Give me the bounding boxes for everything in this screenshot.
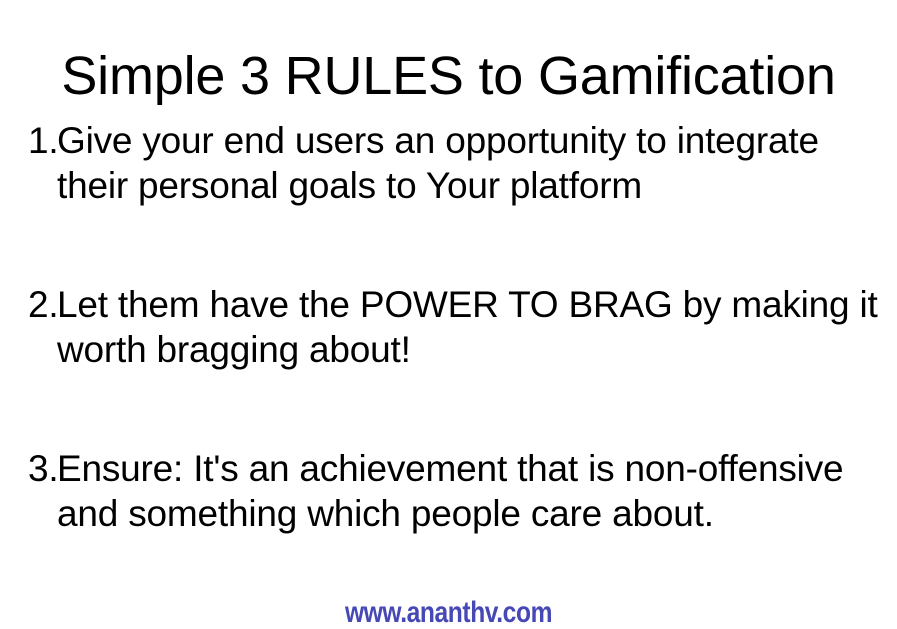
list-item-number: 1.: [28, 118, 58, 163]
list-item-text: Give your end users an opportunity to in…: [57, 118, 894, 208]
list-item: 1. Give your end users an opportunity to…: [28, 118, 894, 208]
list-item-text: Ensure: It's an achievement that is non-…: [57, 446, 894, 536]
list-item-number: 2.: [28, 282, 58, 327]
page-title: Simple 3 RULES to Gamification: [0, 44, 897, 108]
presentation-slide: Simple 3 RULES to Gamification 1. Give y…: [0, 0, 897, 627]
watermark-url: www.ananthv.com: [81, 597, 817, 629]
list-item-number: 3.: [28, 446, 58, 491]
list-item: 2. Let them have the POWER TO BRAG by ma…: [28, 282, 894, 372]
rules-list: 1. Give your end users an opportunity to…: [28, 118, 894, 536]
list-item: 3. Ensure: It's an achievement that is n…: [28, 446, 894, 536]
list-item-text: Let them have the POWER TO BRAG by makin…: [57, 282, 894, 372]
